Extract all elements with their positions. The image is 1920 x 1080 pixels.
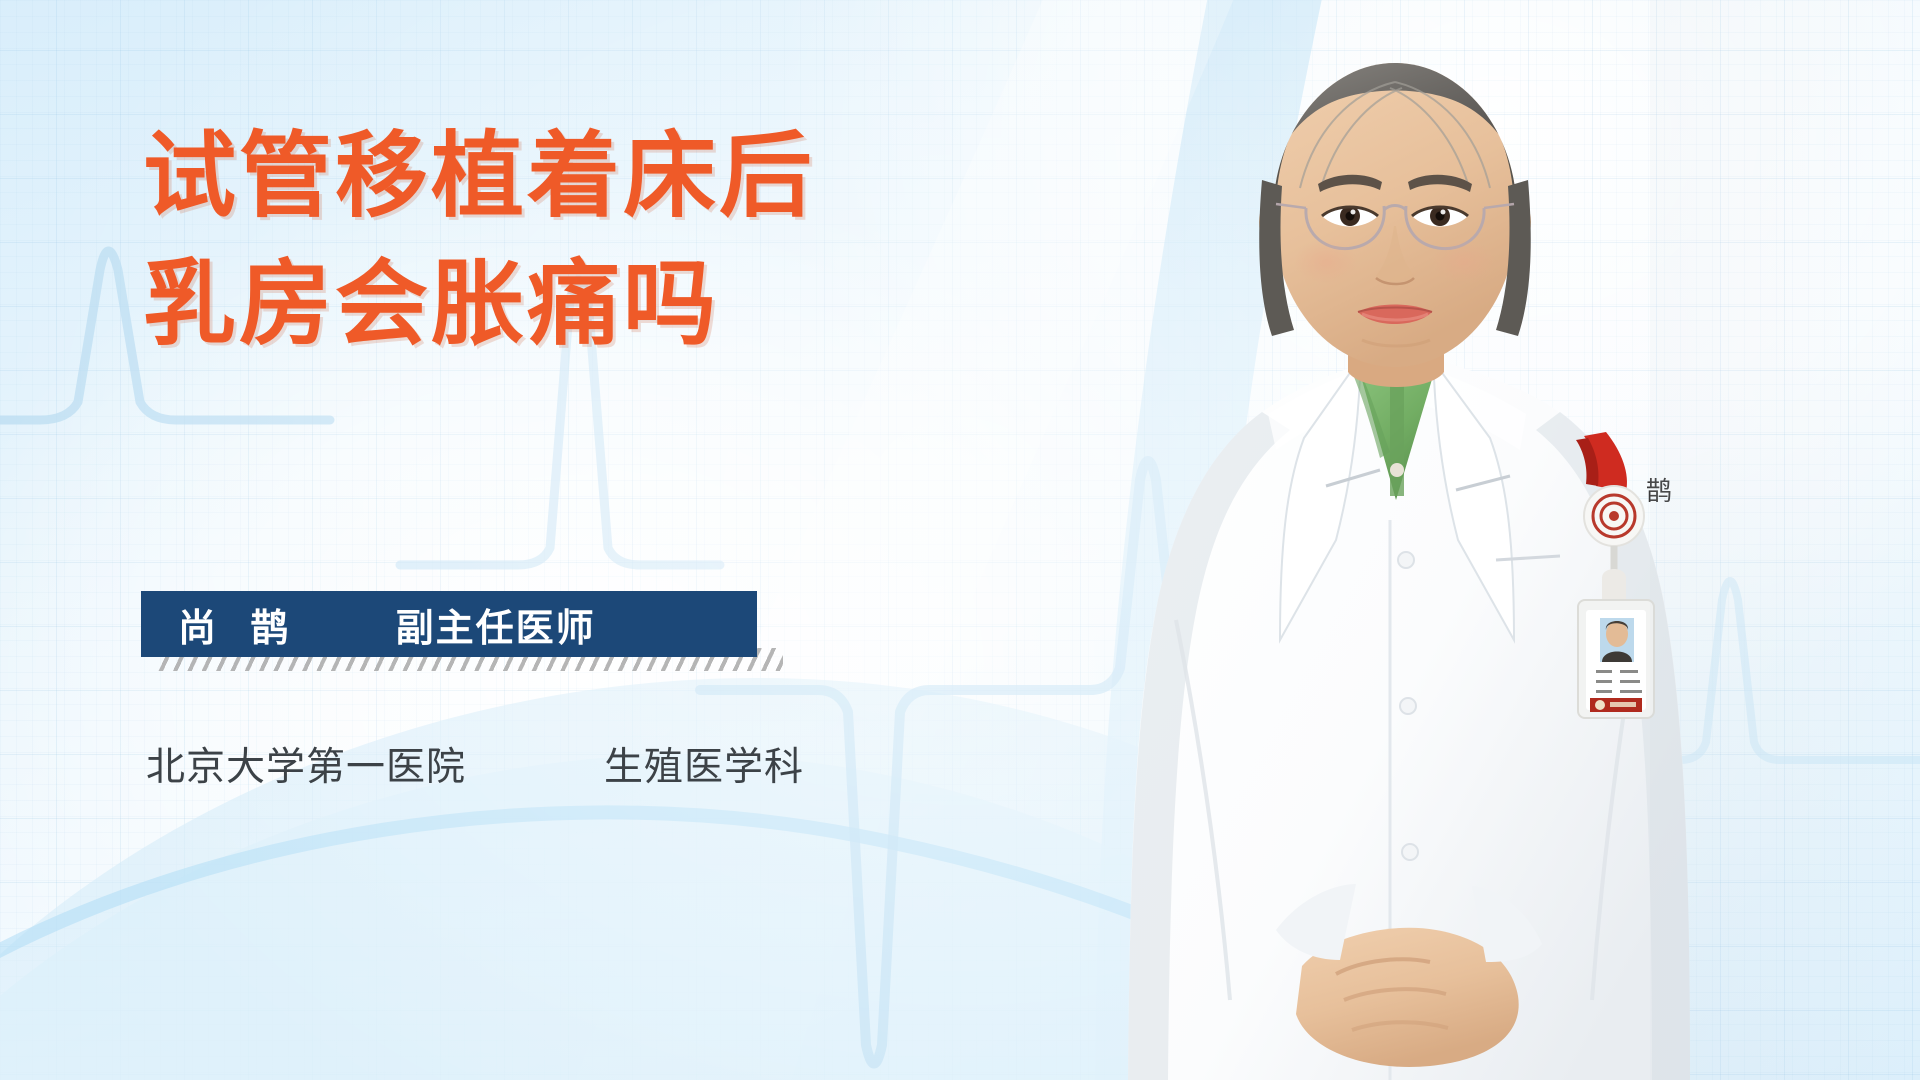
title-line-2: 乳房会胀痛吗 [143, 240, 815, 368]
page-title: 试管移植着床后 乳房会胀痛吗 [143, 112, 815, 368]
doctor-name: 尚 鹊 [178, 597, 301, 652]
affiliation: 北京大学第一医院 生殖医学科 [146, 736, 804, 792]
department-name: 生殖医学科 [604, 736, 804, 792]
doctor-name-badge: 尚 鹊 副主任医师 [141, 591, 757, 657]
coat-button [1402, 844, 1418, 860]
thumbnail-canvas: 试管移植着床后 乳房会胀痛吗 尚 鹊 副主任医师 北京大学第一医院 生殖医学科 [0, 0, 1920, 1080]
coat-button [1400, 698, 1416, 714]
coat-button [1398, 552, 1414, 568]
hospital-name: 北京大学第一医院 [146, 736, 466, 792]
head [1259, 48, 1531, 367]
badge-bar: 尚 鹊 副主任医师 [141, 591, 757, 657]
title-line-1: 试管移植着床后 [143, 112, 815, 240]
doctor-rank: 副主任医师 [396, 597, 596, 652]
doctor-portrait: 鹊 [1090, 0, 1920, 1080]
